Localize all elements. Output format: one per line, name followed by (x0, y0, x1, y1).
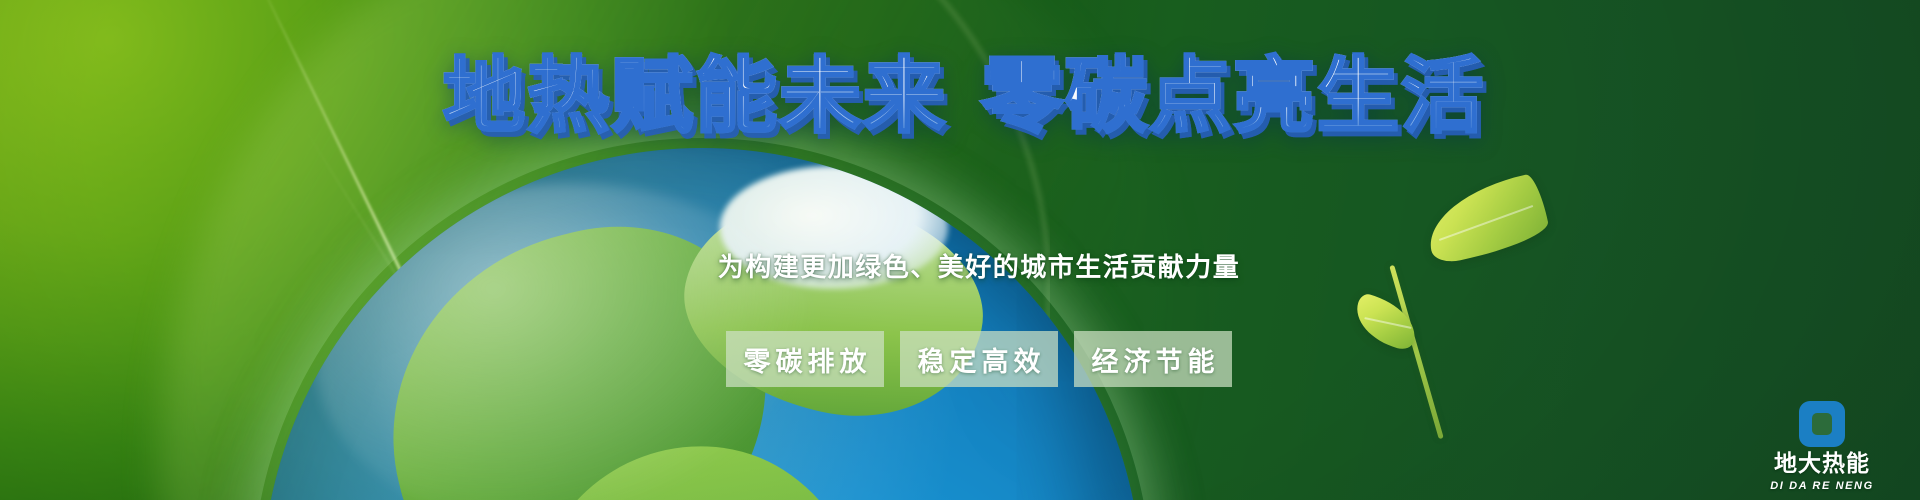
company-logo[interactable]: 地大热能 DI DA RE NENG (1760, 401, 1884, 492)
rainbow-arc-in-rounded-square-icon (1799, 401, 1845, 447)
logo-inner-cutout (1812, 413, 1832, 435)
feature-tag-stable-efficient[interactable]: 稳定高效 (900, 331, 1058, 387)
promo-banner: 地热赋能未来零碳点亮生活 为构建更加绿色、美好的城市生活贡献力量 零碳排放 稳定… (0, 0, 1920, 500)
feature-tag-zero-carbon[interactable]: 零碳排放 (726, 331, 884, 387)
banner-subtitle: 为构建更加绿色、美好的城市生活贡献力量 (0, 247, 1920, 284)
feature-tag-economic-saving[interactable]: 经济节能 (1074, 331, 1232, 387)
feature-tag-list: 零碳排放 稳定高效 经济节能 (0, 331, 1920, 387)
logo-name-cn: 地大热能 (1774, 452, 1870, 477)
headline-part-2: 零碳点亮生活 (981, 49, 1485, 144)
headline-part-1: 地热赋能未来 (443, 49, 947, 144)
logo-name-en: DI DA RE NENG (1770, 480, 1874, 492)
banner-headline: 地热赋能未来零碳点亮生活 (0, 54, 1920, 141)
